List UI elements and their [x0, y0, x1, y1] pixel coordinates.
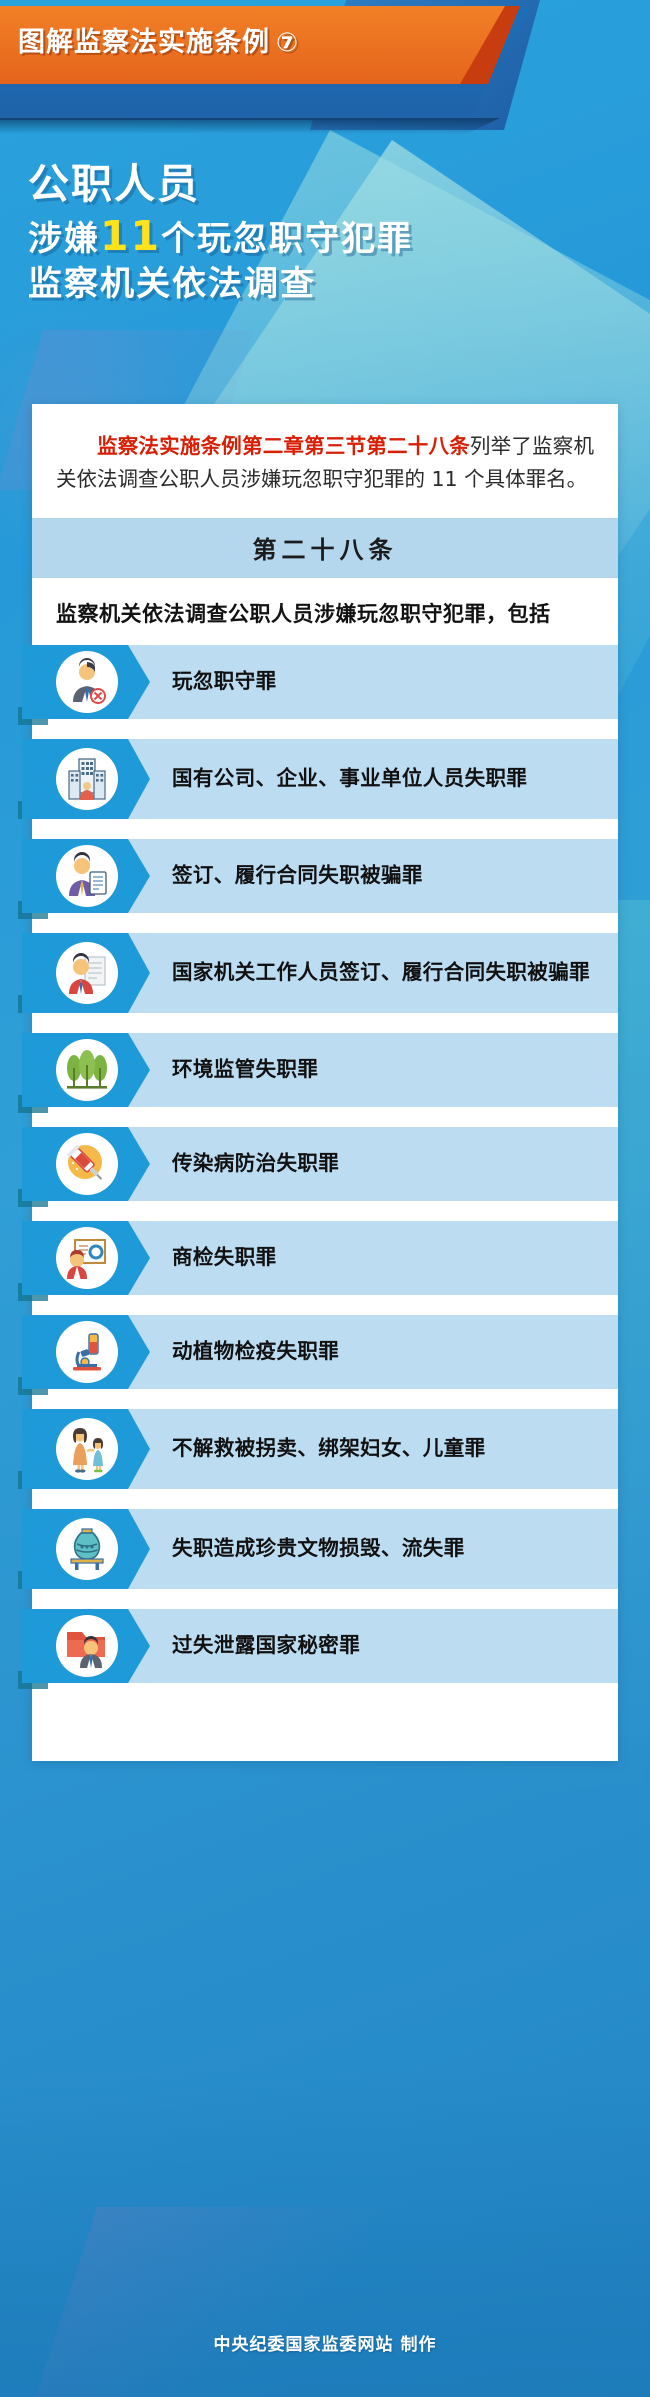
- list-item[interactable]: 玩忽职守罪: [32, 645, 618, 719]
- list-item[interactable]: 商检失职罪: [32, 1221, 618, 1295]
- headline-line-2: 涉嫌11个玩忽职守犯罪: [28, 212, 588, 260]
- infographic-poster: 图解监察法实施条例⑦ 公职人员 涉嫌11个玩忽职守犯罪 监察机关依法调查 监察法…: [0, 0, 650, 2397]
- list-item-label: 过失泄露国家秘密罪: [172, 1632, 374, 1659]
- crime-list: 玩忽职守罪: [32, 645, 618, 1721]
- list-item[interactable]: 环境监管失职罪: [32, 1033, 618, 1107]
- syringe-icon: [56, 1133, 118, 1195]
- headline-line-2-suffix: 个玩忽职守犯罪: [161, 219, 413, 259]
- state-enterprise-building-icon: [56, 748, 118, 810]
- list-item[interactable]: 传染病防治失职罪: [32, 1127, 618, 1201]
- secret-folder-icon: [56, 1615, 118, 1677]
- list-item-label: 环境监管失职罪: [172, 1056, 332, 1083]
- list-item-label: 国家机关工作人员签订、履行合同失职被骗罪: [172, 959, 604, 986]
- ribbon-series-number: ⑦: [276, 28, 299, 58]
- contract-person-icon: [56, 845, 118, 907]
- list-item-label: 动植物检疫失职罪: [172, 1338, 353, 1365]
- list-item-label: 玩忽职守罪: [172, 668, 291, 695]
- list-item-label: 商检失职罪: [172, 1244, 291, 1271]
- intro-paragraph: 监察法实施条例第二章第三节第二十八条列举了监察机关依法调查公职人员涉嫌玩忽职守犯…: [56, 430, 594, 496]
- trees-environment-icon: [56, 1039, 118, 1101]
- intro-highlight: 监察法实施条例第二章第三节第二十八条: [97, 434, 470, 458]
- card-intro-area: 监察法实施条例第二章第三节第二十八条列举了监察机关依法调查公职人员涉嫌玩忽职守犯…: [32, 404, 618, 496]
- headline-line-2-prefix: 涉嫌: [28, 219, 100, 259]
- footer-credit: 中央纪委国家监委网站 制作: [0, 2330, 650, 2355]
- list-item[interactable]: 动植物检疫失职罪: [32, 1315, 618, 1389]
- list-item[interactable]: 国家机关工作人员签订、履行合同失职被骗罪: [32, 933, 618, 1013]
- headline-line-3: 监察机关依法调查: [28, 264, 588, 304]
- official-banned-icon: [56, 651, 118, 713]
- top-ribbon: 图解监察法实施条例⑦: [0, 0, 650, 135]
- content-card: 监察法实施条例第二章第三节第二十八条列举了监察机关依法调查公职人员涉嫌玩忽职守犯…: [32, 404, 618, 1761]
- ribbon-shadow-edge: [0, 118, 500, 134]
- list-item-label: 传染病防治失职罪: [172, 1150, 353, 1177]
- list-item-label: 签订、履行合同失职被骗罪: [172, 862, 437, 889]
- list-item-label: 失职造成珍贵文物损毁、流失罪: [172, 1535, 479, 1562]
- list-item[interactable]: 不解救被拐卖、绑架妇女、儿童罪: [32, 1409, 618, 1489]
- headline-count-accent: 11: [100, 212, 161, 260]
- card-bottom-spacer: [32, 1721, 618, 1761]
- list-item-label: 国有公司、企业、事业单位人员失职罪: [172, 765, 541, 792]
- background-violet-wedge-bottom: [23, 2207, 398, 2397]
- ribbon-title: 图解监察法实施条例⑦: [18, 20, 299, 59]
- ribbon-title-text: 图解监察法实施条例: [18, 27, 270, 58]
- official-document-icon: [56, 942, 118, 1004]
- list-item[interactable]: 过失泄露国家秘密罪: [32, 1609, 618, 1683]
- leadin-text: 监察机关依法调查公职人员涉嫌玩忽职守犯罪，包括: [32, 578, 618, 645]
- microscope-icon: [56, 1321, 118, 1383]
- list-item[interactable]: 签订、履行合同失职被骗罪: [32, 839, 618, 913]
- list-item-label: 不解救被拐卖、绑架妇女、儿童罪: [172, 1435, 500, 1462]
- headline-line-1: 公职人员: [28, 160, 588, 208]
- section-title: 第二十八条: [253, 535, 398, 564]
- list-item[interactable]: 国有公司、企业、事业单位人员失职罪: [32, 739, 618, 819]
- list-item[interactable]: 失职造成珍贵文物损毁、流失罪: [32, 1509, 618, 1589]
- inspection-board-icon: [56, 1227, 118, 1289]
- headline-block: 公职人员 涉嫌11个玩忽职守犯罪 监察机关依法调查: [28, 160, 588, 304]
- antique-vase-icon: [56, 1518, 118, 1580]
- section-header-bar: 第二十八条: [32, 518, 618, 578]
- woman-child-icon: [56, 1418, 118, 1480]
